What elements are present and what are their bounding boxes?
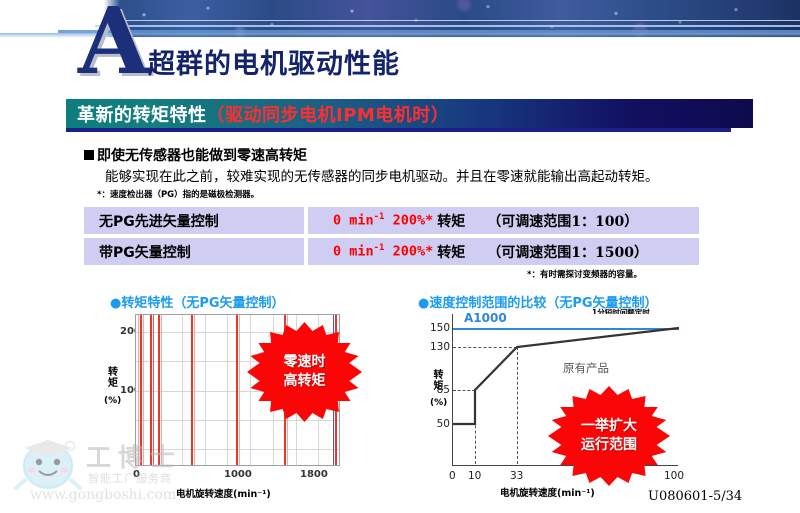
section-title-text: 革新的转矩特性（驱动同步电机IPM电机时） [77, 101, 449, 127]
footnote-capacity: *：有时需探讨变频器的容量。 [527, 268, 642, 280]
left-y-char-1: 转 [106, 367, 120, 378]
section-title-paren: （驱动同步电机IPM电机时） [207, 105, 450, 126]
left-chart-xtick-1800: 1800 [300, 469, 328, 480]
watermark-url: www.gongboshi.com [30, 487, 176, 503]
badge-line-1: 零速时 [284, 353, 326, 372]
page-title: 超群的电机驱动性能 [148, 42, 400, 81]
badge-line-2: 运行范围 [581, 436, 637, 455]
row-value-pct: 200%* [384, 244, 433, 260]
right-chart-ytick-50: 50 [424, 418, 450, 430]
mascot-icon [8, 436, 86, 492]
right-chart-xtick-10: 10 [468, 470, 481, 482]
footer-document-code: U080601-5/34 [648, 489, 742, 504]
watermark-tagline: 智能工厂服务商 [88, 470, 172, 486]
spec-table: 无PG先进矢量控制 0 min-1 200%* 转矩 （可调速范围1：100） … [84, 207, 699, 269]
right-chart-xtick-0: 0 [449, 470, 456, 482]
table-cell-label: 无PG先进矢量控制 [84, 207, 304, 234]
section-title-main: 革新的转矩特性 [77, 105, 207, 126]
row-label: 无PG先进矢量控制 [99, 211, 219, 231]
banner-stripe-1 [110, 20, 800, 21]
row-value-num: 0 min [333, 244, 374, 260]
right-chart-xtick-33: 33 [510, 470, 523, 482]
row-label: 带PG矢量控制 [99, 242, 191, 262]
right-chart-ytick-85: 85 [424, 384, 450, 396]
row-value-numeric: 0 min-1 200%* [333, 212, 433, 229]
watermark-brand: 工博士 [86, 438, 182, 474]
body-paragraph: 能够实现在此之前，较难实现的无传感器的同步电机驱动。并且在零速就能输出高起动转矩… [105, 165, 659, 185]
bullet-heading-text: 即使无传感器也能做到零速高转矩 [97, 148, 307, 164]
square-bullet-icon [84, 150, 94, 160]
table-cell-label: 带PG矢量控制 [84, 238, 304, 265]
banner-stripe-2 [95, 25, 800, 27]
right-chart-x-axis-name: 电机旋转速度(min⁻¹) [500, 485, 595, 499]
logo-letter-a: A [78, 0, 147, 87]
row-value-num: 0 min [333, 213, 374, 229]
row-value-torque: 转矩 [437, 242, 465, 262]
left-chart-y-axis-name: 转 矩 [106, 367, 120, 389]
row-value-torque: 转矩 [437, 211, 465, 231]
right-chart-y-unit: (%) [430, 398, 447, 408]
left-grid-v [250, 315, 251, 465]
left-trace [236, 315, 238, 465]
left-chart-y-unit: (%) [104, 396, 121, 406]
left-y-char-2: 矩 [106, 378, 120, 389]
table-cell-value: 0 min-1 200%* 转矩 （可调速范围1：100） [308, 207, 699, 234]
left-grid-v [227, 315, 228, 465]
bullet-heading: 即使无传感器也能做到零速高转矩 [84, 145, 307, 165]
table-row: 无PG先进矢量控制 0 min-1 200%* 转矩 （可调速范围1：100） [84, 207, 699, 234]
badge-line-1: 一举扩大 [581, 417, 637, 436]
right-chart-xtick-100: 100 [664, 470, 684, 482]
right-y-char-1: 转 [432, 370, 445, 381]
row-value-range: （可调速范围1：1500） [487, 242, 648, 262]
right-chart-ytick-150: 150 [424, 322, 450, 334]
series-legacy-label: 原有产品 [563, 360, 609, 376]
table-cell-value: 0 min-1 200%* 转矩 （可调速范围1：1500） [308, 238, 699, 265]
footnote-pg: *：速度检出器（PG）指的是磁极检测器。 [97, 188, 259, 200]
table-row: 带PG矢量控制 0 min-1 200%* 转矩 （可调速范围1：1500） [84, 238, 699, 265]
left-chart-title: ●转矩特性（无PG矢量控制） [110, 292, 285, 311]
row-value-sup: -1 [374, 212, 385, 222]
left-trace [239, 315, 240, 465]
left-chart-xtick-1000: 1000 [224, 469, 252, 480]
row-value-numeric: 0 min-1 200%* [333, 243, 433, 260]
row-value-sup: -1 [374, 243, 385, 253]
watermark: 工博士 智能工厂服务商 www.gongboshi.com [8, 432, 208, 510]
badge-line-2: 高转矩 [284, 372, 326, 391]
section-title-bar: 革新的转矩特性（驱动同步电机IPM电机时） [66, 99, 753, 128]
row-value-range: （可调速范围1：100） [487, 211, 638, 231]
right-chart-ytick-130: 130 [424, 341, 450, 353]
row-value-pct: 200%* [384, 213, 433, 229]
section-bar-underline [66, 128, 731, 132]
